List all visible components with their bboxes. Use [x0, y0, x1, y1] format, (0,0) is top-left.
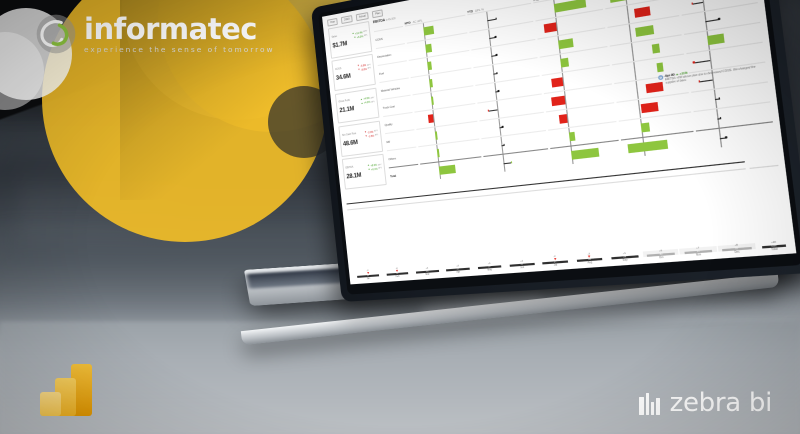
- toolbar-chip-period[interactable]: 2020: [341, 15, 353, 23]
- total-variance-strip: [747, 145, 778, 169]
- kpi-delta-unit: ΔPY: [367, 64, 371, 67]
- kpi-delta-unit: ΔPY: [370, 97, 374, 100]
- dashboard: Year 2020 Actual Plan Sales: [322, 0, 796, 284]
- kpi-label: Sales: [332, 36, 338, 39]
- zebrabi-name: zebra bi: [670, 388, 772, 418]
- swirl-circle-icon: [34, 12, 78, 56]
- kpi-label: Gross Profit: [339, 100, 351, 104]
- kpi-card-cogs[interactable]: COGS ▼-6.8%ΔPY ▼-8.8%ΔPL 34.6M: [331, 54, 375, 91]
- zebrabi-logo: zebra bi: [639, 388, 772, 418]
- kpi-label: Net Cash Flow: [342, 133, 356, 137]
- total-bar-wrap: +48 658: [750, 166, 789, 249]
- powerbi-logo: [38, 362, 96, 423]
- laptop-screen: Year 2020 Actual Plan Sales: [322, 0, 796, 284]
- kpi-label: COGS: [335, 68, 342, 72]
- powerbi-bars-icon: [38, 362, 96, 418]
- informatec-wordmark: informatec experience the sense of tomor…: [84, 15, 275, 53]
- informatec-logo: informatec experience the sense of tomor…: [34, 12, 275, 56]
- kpi-label: EBITDA: [346, 167, 354, 170]
- kpi-delta-unit: ΔPY: [378, 164, 382, 166]
- comment-badge-icon: 1: [658, 75, 663, 80]
- informatec-name: informatec: [84, 15, 275, 44]
- toolbar-chip-actual[interactable]: Actual: [356, 12, 369, 20]
- informatec-tagline: experience the sense of tomorrow: [84, 46, 275, 53]
- laptop-bezel: Year 2020 Actual Plan Sales: [318, 0, 800, 295]
- kpi-card-sales[interactable]: Sales ▲+12.4%ΔPY ▲+6.0%ΔPL $1.7M: [328, 21, 372, 59]
- zebra-bars-icon: [639, 391, 660, 415]
- kpi-card-ebitda[interactable]: EBITDA ▲+8.0%ΔPY ▲+6.1%ΔPL 28.1M: [342, 154, 387, 190]
- kpi-delta-unit: ΔPY: [374, 130, 378, 133]
- toolbar-chip-year[interactable]: Year: [327, 18, 338, 26]
- kpi-card-gross-profit[interactable]: Gross Profit ▲+4.6%ΔPY ▲+4.0%ΔPL 21.1M: [335, 87, 380, 124]
- toolbar-chip-plan[interactable]: Plan: [372, 10, 383, 18]
- laptop: Year 2020 Actual Plan Sales: [232, 2, 792, 392]
- kpi-card-net-cash-flow[interactable]: Net Cash Flow ▼-2.0%ΔPY ▼-1.8%ΔPL 48.6M: [338, 121, 383, 157]
- banner-stage: Year 2020 Actual Plan Sales: [0, 0, 800, 434]
- laptop-lid: Year 2020 Actual Plan Sales: [311, 0, 800, 302]
